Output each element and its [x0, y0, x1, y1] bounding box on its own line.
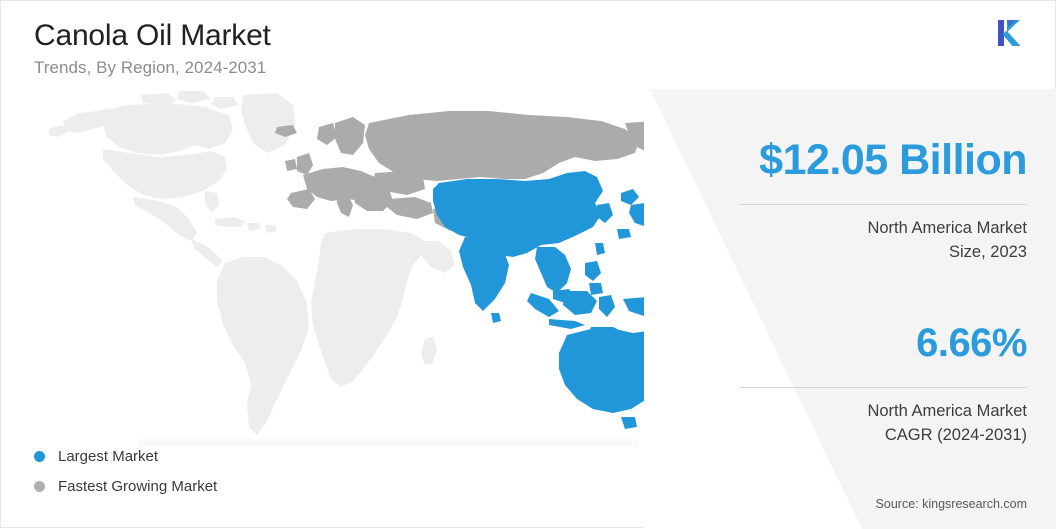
stat-label-market-size: North America Market Size, 2023 — [644, 217, 1027, 265]
dot-icon — [34, 451, 45, 462]
page-subtitle: Trends, By Region, 2024-2031 — [34, 58, 271, 78]
legend-label: Fastest Growing Market — [58, 478, 217, 495]
stat-label-line-2: CAGR (2024-2031) — [885, 426, 1027, 444]
source-attribution: Source: kingsresearch.com — [876, 497, 1027, 511]
header: Canola Oil Market Trends, By Region, 202… — [34, 19, 271, 78]
infographic-canvas: Canola Oil Market Trends, By Region, 202… — [1, 1, 1055, 527]
stat-label-line-1: North America Market — [867, 219, 1027, 237]
k-logo-icon — [989, 13, 1033, 53]
legend-item-fastest-growing-market: Fastest Growing Market — [34, 471, 217, 501]
stat-divider — [739, 204, 1027, 205]
legend-item-largest-market: Largest Market — [34, 441, 217, 471]
stat-value-cagr: 6.66% — [644, 323, 1027, 363]
brand-logo — [989, 13, 1033, 53]
stat-label-cagr: North America Market CAGR (2024-2031) — [644, 400, 1027, 448]
stat-label-line-1: North America Market — [867, 402, 1027, 420]
world-map-svg — [19, 87, 719, 447]
map-legend: Largest Market Fastest Growing Market — [34, 441, 217, 501]
world-map — [19, 87, 719, 447]
dot-icon — [34, 481, 45, 492]
stats-panel-content: $12.05 Billion North America Market Size… — [644, 89, 1056, 529]
stats-panel: $12.05 Billion North America Market Size… — [644, 89, 1056, 529]
stat-value-market-size: $12.05 Billion — [644, 139, 1027, 182]
stat-label-line-2: Size, 2023 — [949, 243, 1027, 261]
stat-divider — [739, 387, 1027, 388]
page-title: Canola Oil Market — [34, 19, 271, 53]
legend-label: Largest Market — [58, 448, 158, 465]
